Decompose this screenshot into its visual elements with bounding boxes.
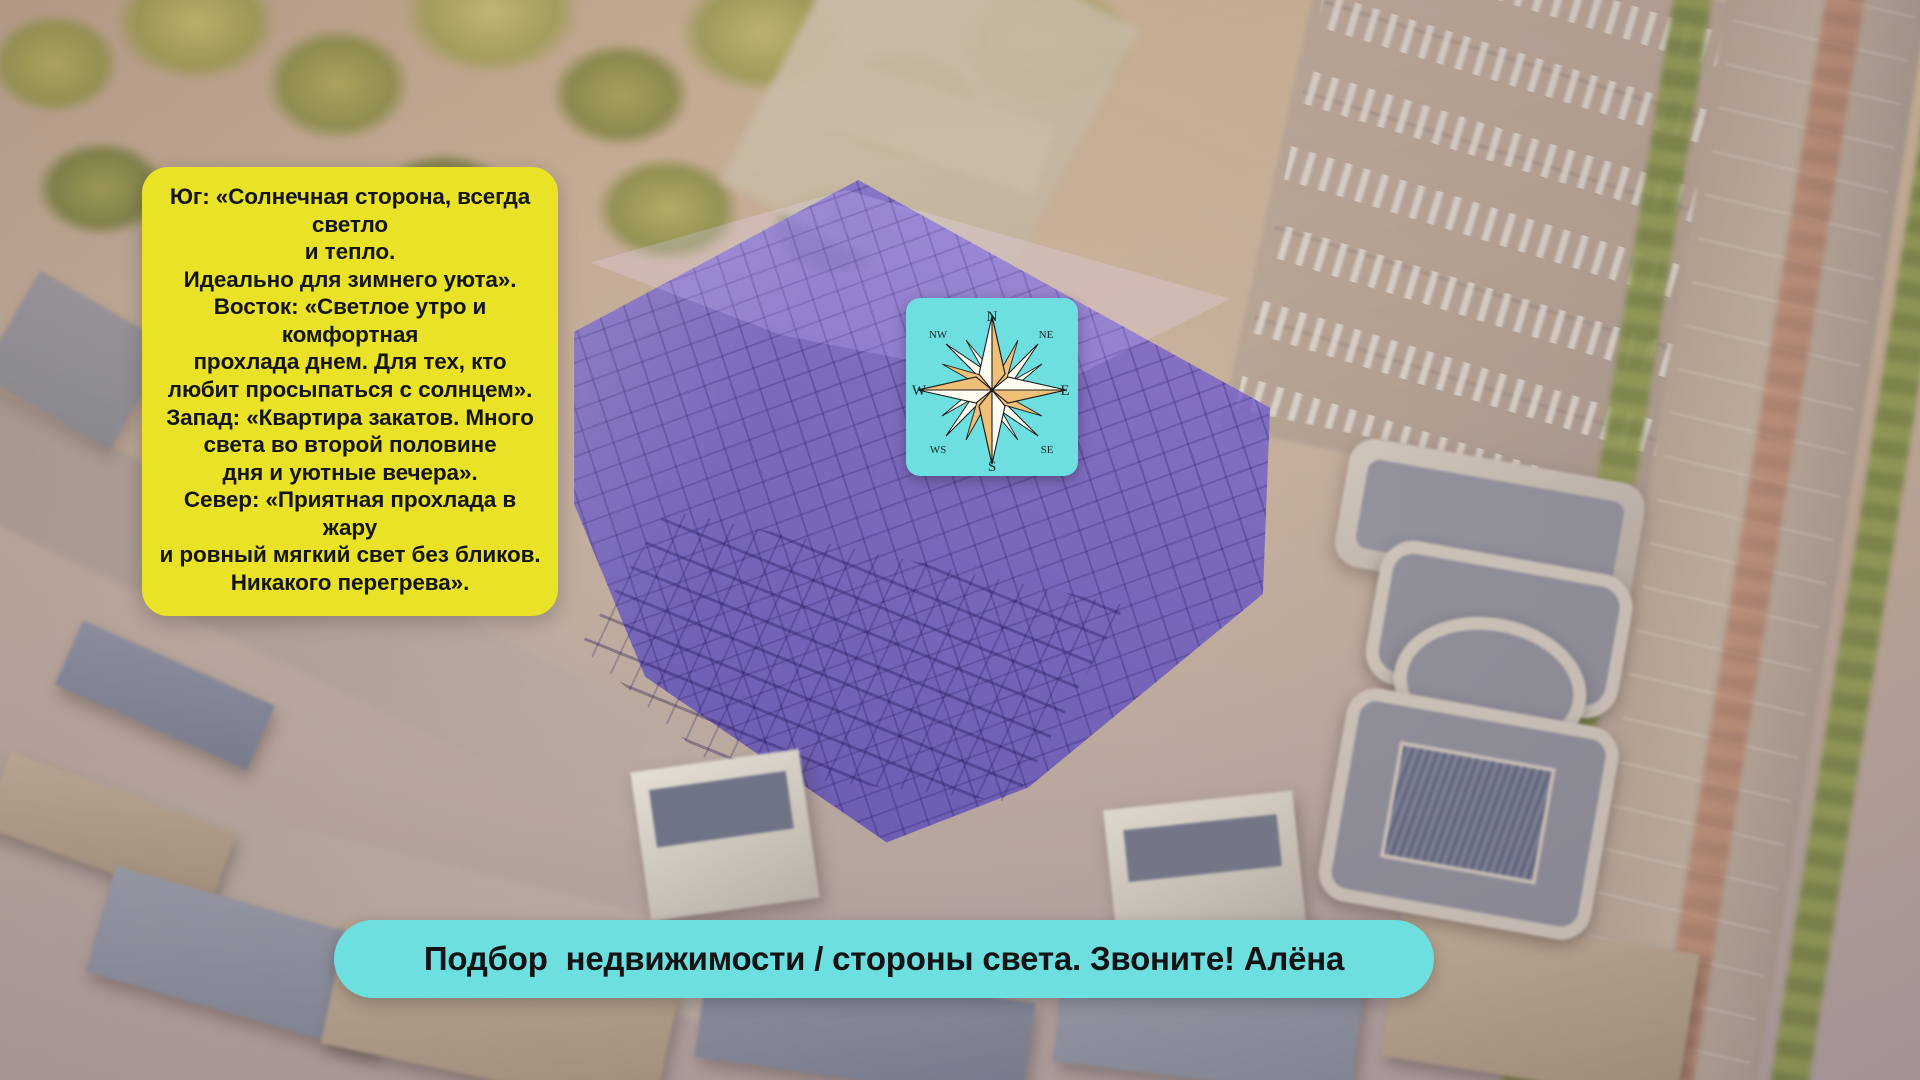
compass-label-ne: NE [1039,329,1054,341]
compass-label-s: S [988,459,996,475]
compass-label-n: N [987,309,998,325]
compass-rose-card[interactable]: N NE E SE S WS W NW [906,298,1078,476]
lowrise-left-roof [649,771,794,848]
compass-label-se: SE [1041,444,1054,456]
grey-building-complex [1317,534,1703,936]
lowrise-right-roof [1123,814,1282,882]
orientation-benefits-card: Юг: «Солнечная сторона, всегда светло и … [142,167,558,616]
compass-label-w: W [912,383,927,399]
foreground-lowrise-left [630,749,819,921]
compass-rose-icon: N NE E SE S WS W NW [906,298,1078,476]
compass-label-nw: NW [929,329,948,341]
screenshot-canvas: N NE E SE S WS W NW Юг: «Солнечная сторо… [0,0,1920,1080]
compass-label-e: E [1060,383,1069,399]
call-to-action-banner[interactable]: Подбор недвижимости / стороны света. Зво… [334,920,1434,998]
call-to-action-text: Подбор недвижимости / стороны света. Зво… [424,940,1344,978]
orientation-benefits-text: Юг: «Солнечная сторона, всегда светло и … [156,183,544,596]
compass-label-sw: WS [930,444,947,456]
